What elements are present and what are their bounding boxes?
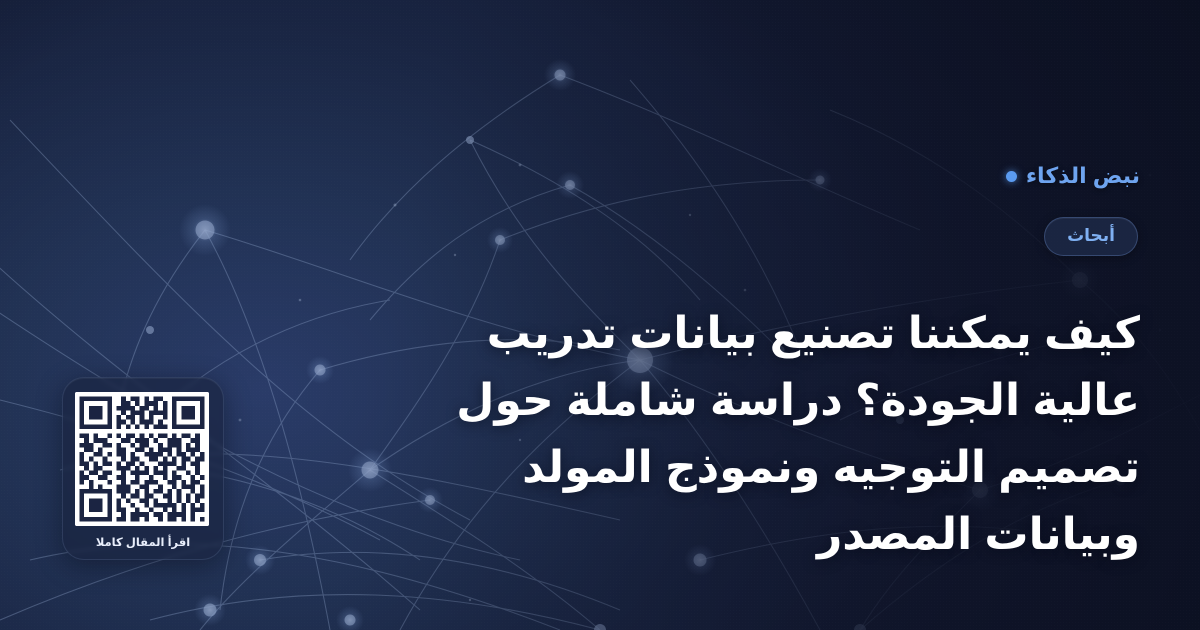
brand-name: نبض الذكاء: [1026, 163, 1140, 189]
article-title: كيف يمكننا تصنيع بيانات تدريب عالية الجو…: [440, 301, 1140, 569]
brand-logo: نبض الذكاء: [1006, 163, 1140, 189]
social-share-card: نبض الذكاء أبحاث كيف يمكننا تصنيع بيانات…: [0, 0, 1200, 630]
qr-code-card[interactable]: اقرأ المقال كاملا: [62, 377, 224, 560]
qr-code-icon: [75, 392, 209, 526]
qr-card-caption: اقرأ المقال كاملا: [77, 535, 209, 549]
bullet-dot-icon: [1006, 171, 1017, 182]
category-badge[interactable]: أبحاث: [1044, 217, 1138, 256]
